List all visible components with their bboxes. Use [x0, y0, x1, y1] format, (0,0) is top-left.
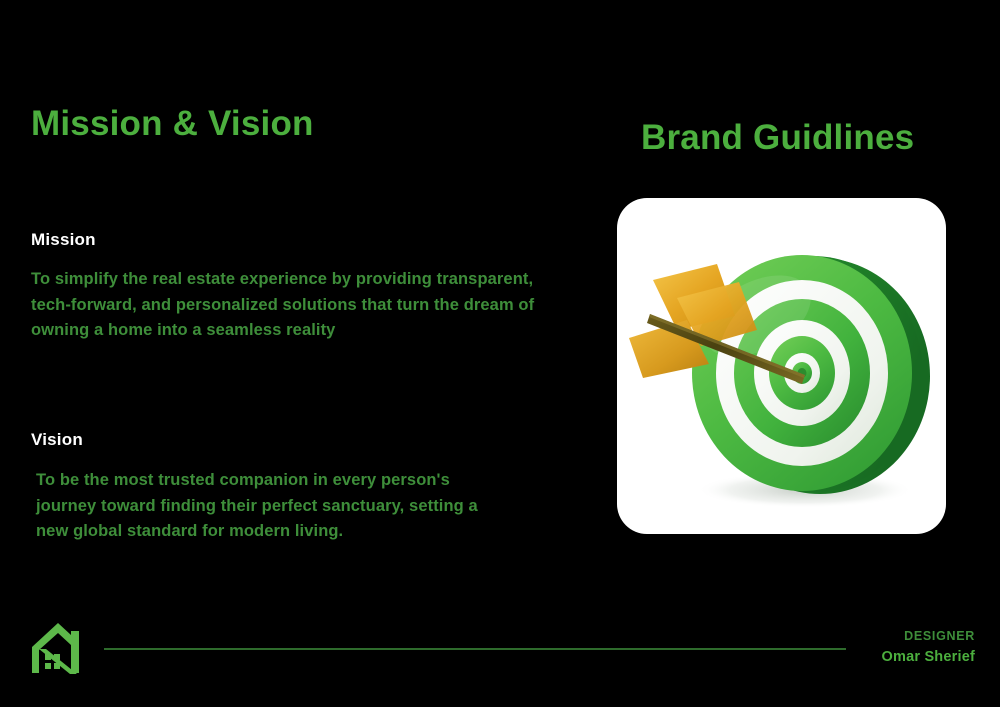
page-title: Mission & Vision	[31, 104, 314, 144]
designer-name: Omar Sherief	[882, 649, 975, 665]
footer-divider	[104, 648, 846, 650]
house-n-monogram-logo	[27, 617, 89, 679]
mission-body-text: To simplify the real estate experience b…	[31, 267, 571, 344]
designer-role-label: DESIGNER	[904, 629, 975, 643]
mission-label: Mission	[31, 230, 96, 250]
brand-image-card	[617, 198, 946, 534]
target-with-arrow-image	[617, 198, 946, 534]
vision-body-text: To be the most trusted companion in ever…	[36, 468, 506, 545]
vision-label: Vision	[31, 430, 83, 450]
deck-title: Brand Guidlines	[641, 118, 914, 158]
slide-canvas: Mission & Vision Brand Guidlines Mission…	[0, 0, 1000, 707]
